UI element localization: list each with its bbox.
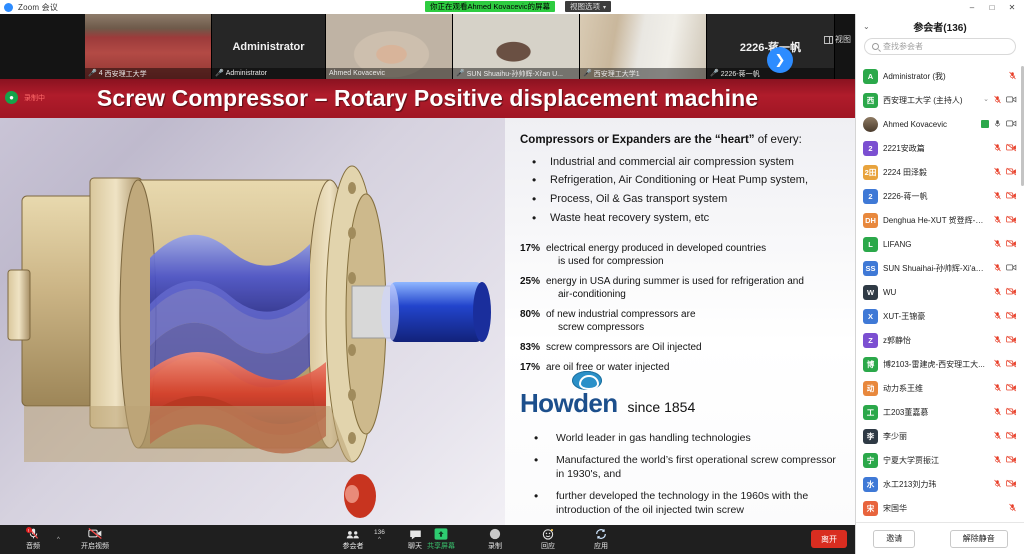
share-screen-icon — [434, 528, 448, 540]
meeting-toolbar: ! 音频 ^ 开启视频 136 — [0, 525, 855, 554]
avatar: X — [863, 309, 878, 324]
camera-on-icon[interactable] — [1006, 263, 1017, 274]
share-screen-label: 共享屏幕 — [427, 541, 455, 551]
host-badge-icon — [981, 120, 989, 128]
thumbnail-name: 西安理工大学 — [105, 69, 147, 79]
avatar: 工 — [863, 405, 878, 420]
slide-bullet-list: Industrial and commercial air compressio… — [520, 155, 845, 226]
mic-muted-icon[interactable] — [993, 263, 1002, 274]
camera-off-icon[interactable] — [1006, 335, 1017, 346]
mic-muted-icon[interactable] — [993, 95, 1002, 106]
participant-status-icons — [993, 143, 1017, 154]
camera-off-icon — [88, 528, 103, 540]
participant-name: 李少丽 — [883, 431, 988, 442]
slide-statistic: 25%energy in USA during summer is used f… — [520, 275, 845, 301]
mic-muted-icon[interactable] — [993, 359, 1002, 370]
window-controls: – □ ✕ — [962, 0, 1022, 14]
avatar: 动 — [863, 381, 878, 396]
participant-row[interactable]: WWU — [856, 280, 1024, 304]
slide-title: Screw Compressor – Rotary Positive displ… — [97, 85, 758, 112]
thumbnail-name-bar: 🎤西安理工大学1 — [580, 68, 706, 79]
camera-off-icon[interactable] — [1006, 239, 1017, 250]
camera-off-icon[interactable] — [1006, 143, 1017, 154]
reaction-icon — [542, 528, 554, 540]
avatar: L — [863, 237, 878, 252]
video-label: 开启视频 — [81, 541, 109, 551]
participant-name: 西安理工大学 (主持人) — [883, 95, 978, 106]
mic-on-icon[interactable] — [993, 119, 1002, 130]
participants-panel: ⌄ 参会者(136) AAdministrator (我)西西安理工大学 (主持… — [855, 14, 1024, 554]
participant-name: 博2103-雷建虎-西安理工大... — [883, 359, 988, 370]
statistic-text: screw compressors are Oil injected — [546, 341, 845, 354]
avatar: SS — [863, 261, 878, 276]
mic-muted-icon: ! — [27, 528, 40, 540]
zoom-meeting-window: Zoom 会议 你正在观看Ahmed Kovacevic的屏幕 视图选项▾ – … — [0, 0, 1024, 554]
camera-off-icon[interactable] — [1006, 383, 1017, 394]
view-options-button[interactable]: 视图选项▾ — [565, 1, 611, 12]
participant-row[interactable]: 水水工213刘力玮 — [856, 472, 1024, 496]
participant-status-icons — [993, 479, 1017, 490]
participants-caret-icon[interactable]: ^ — [378, 537, 381, 543]
thumbnail-prefix: 4 — [99, 70, 103, 77]
slide-lead: Compressors or Expanders are the “heart”… — [520, 134, 845, 148]
layout-icon — [824, 36, 833, 44]
collapse-icon[interactable]: ⌄ — [863, 22, 870, 31]
participant-name: XUT-王锦豪 — [883, 311, 988, 322]
avatar: 2 — [863, 141, 878, 156]
minimize-button[interactable]: – — [962, 0, 982, 14]
slide-bullet: Waste heat recovery system, etc — [520, 211, 845, 227]
participant-row[interactable]: LLIFANG — [856, 232, 1024, 256]
avatar: A — [863, 69, 878, 84]
slide-statistic: 83%screw compressors are Oil injected — [520, 341, 845, 354]
thumbnail-name: 2226-蒋一帆 — [721, 69, 760, 79]
participant-name: z郭静怡 — [883, 335, 988, 346]
video-button[interactable]: 开启视频 — [72, 527, 118, 552]
mic-muted-icon[interactable] — [993, 215, 1002, 226]
camera-off-icon[interactable] — [1006, 479, 1017, 490]
camera-off-icon[interactable] — [1006, 455, 1017, 466]
recording-label: 录制中 — [24, 93, 45, 103]
howden-branding: Howden since 1854 — [520, 388, 845, 419]
mic-muted-icon[interactable] — [993, 191, 1002, 202]
screen-share-banner: 你正在观看Ahmed Kovacevic的屏幕 — [425, 1, 555, 12]
participant-row[interactable]: 22221安政篇 — [856, 136, 1024, 160]
slide-bullet: Process, Oil & Gas transport system — [520, 192, 845, 208]
participant-name: Ahmed Kovacevic — [883, 120, 976, 129]
camera-off-icon[interactable] — [1006, 407, 1017, 418]
mic-muted-icon[interactable] — [993, 335, 1002, 346]
apps-icon — [595, 528, 607, 540]
participant-thumbnail[interactable]: Ahmed Kovacevic — [326, 14, 453, 79]
maximize-button[interactable]: □ — [982, 0, 1002, 14]
participant-row[interactable]: 西西安理工大学 (主持人)⌄ — [856, 88, 1024, 112]
howden-since: since 1854 — [628, 399, 696, 419]
participant-status-icons — [993, 335, 1017, 346]
mic-muted-icon[interactable] — [993, 167, 1002, 178]
participant-name: 2224 田泽毅 — [883, 167, 988, 178]
audio-caret-icon[interactable]: ^ — [57, 537, 60, 543]
participant-status-icons — [1008, 503, 1017, 514]
participant-status-icons — [993, 239, 1017, 250]
mic-muted-icon: 🎤 — [456, 70, 465, 77]
camera-on-icon[interactable] — [1006, 119, 1017, 130]
participant-status-icons — [993, 359, 1017, 370]
slide-bottom-bullet: further developed the technology in the … — [520, 489, 845, 518]
thumbnail-name-bar: Ahmed Kovacevic — [326, 68, 452, 79]
statistic-percent: 80% — [520, 308, 546, 334]
participant-row[interactable]: SSSUN Shuaihai-孙帅辉-Xi'an U... — [856, 256, 1024, 280]
mic-muted-icon[interactable] — [993, 287, 1002, 298]
participant-name: 2226-蒋一帆 — [883, 191, 988, 202]
participant-name: 宁夏大学贾振江 — [883, 455, 988, 466]
invite-button[interactable]: 邀请 — [873, 530, 915, 548]
mic-muted-icon[interactable] — [993, 143, 1002, 154]
participant-row[interactable]: Zz郭静怡 — [856, 328, 1024, 352]
participant-status-icons — [1008, 71, 1017, 82]
mic-muted-icon: 🎤 — [88, 70, 97, 77]
slide-bottom-bullet: World leader in gas handling technologie… — [520, 431, 845, 445]
mic-muted-icon[interactable] — [993, 455, 1002, 466]
participant-name: SUN Shuaihai-孙帅辉-Xi'an U... — [883, 263, 988, 274]
search-input[interactable] — [883, 42, 1008, 51]
participants-panel-footer: 邀请 解除静音 — [856, 522, 1024, 554]
mic-muted-icon[interactable] — [1008, 71, 1017, 82]
mic-muted-icon: 🎤 — [215, 70, 224, 77]
avatar: 西 — [863, 93, 878, 108]
participant-row[interactable]: Ahmed Kovacevic — [856, 112, 1024, 136]
avatar: 博 — [863, 357, 878, 372]
avatar: 2田 — [863, 165, 878, 180]
participant-name: LIFANG — [883, 240, 988, 249]
record-button[interactable]: 录制 — [472, 527, 518, 552]
view-button-label: 视图 — [835, 34, 851, 45]
participants-panel-header: ⌄ 参会者(136) — [856, 14, 1024, 38]
more-options-icon[interactable]: ⌄ — [983, 96, 989, 104]
close-button[interactable]: ✕ — [1002, 0, 1022, 14]
participant-thumbnail[interactable]: 🎤西安理工大学1 — [580, 14, 707, 79]
statistic-percent: 17% — [520, 361, 546, 374]
slide-bullet: Refrigeration, Air Conditioning or Heat … — [520, 173, 845, 189]
participant-row[interactable]: XXUT-王锦豪 — [856, 304, 1024, 328]
mic-muted-icon[interactable] — [993, 311, 1002, 322]
statistic-percent: 17% — [520, 242, 546, 268]
participant-status-icons — [993, 191, 1017, 202]
mic-muted-icon: 🎤 — [583, 70, 592, 77]
people-icon: 136 — [346, 528, 360, 540]
slide-bottom-bullet: Manufactured the world’s first operation… — [520, 453, 845, 482]
participant-row[interactable]: 宁宁夏大学贾振江 — [856, 448, 1024, 472]
participant-name: 动力系王维 — [883, 383, 988, 394]
camera-on-icon[interactable] — [1006, 95, 1017, 106]
slide-statistic: 17%are oil free or water injected — [520, 361, 845, 374]
participant-status-icons — [981, 119, 1017, 130]
participants-list[interactable]: AAdministrator (我)西西安理工大学 (主持人)⌄Ahmed Ko… — [856, 64, 1024, 519]
shared-screen-area[interactable]: ● 录制中 Screw Compressor – Rotary Positive… — [0, 79, 855, 525]
participants-search[interactable] — [864, 38, 1016, 55]
participant-status-icons — [993, 383, 1017, 394]
participant-row[interactable]: 李李少丽 — [856, 424, 1024, 448]
thumbnail-name: Administrator — [226, 70, 267, 77]
avatar: DH — [863, 213, 878, 228]
participant-row[interactable]: 动动力系王维 — [856, 376, 1024, 400]
reactions-label: 回应 — [541, 541, 555, 551]
participant-row[interactable]: DHDenghua He-XUT 贺登辉-西... — [856, 208, 1024, 232]
slide-lead-bold: Compressors or Expanders are the “heart” — [520, 134, 755, 146]
participant-status-icons — [993, 167, 1017, 178]
participant-name: 2221安政篇 — [883, 143, 988, 154]
camera-off-icon[interactable] — [1006, 167, 1017, 178]
participant-name: Denghua He-XUT 贺登辉-西... — [883, 215, 988, 226]
share-screen-button[interactable]: 共享屏幕 — [418, 527, 464, 552]
camera-off-icon[interactable] — [1006, 287, 1017, 298]
participant-status-icons — [993, 263, 1017, 274]
camera-off-icon[interactable] — [1006, 191, 1017, 202]
thumbnail-name-bar: 🎤Administrator — [212, 68, 325, 79]
record-label: 录制 — [488, 541, 502, 551]
participant-status-icons — [993, 431, 1017, 442]
camera-off-icon[interactable] — [1006, 215, 1017, 226]
avatar: 水 — [863, 477, 878, 492]
statistic-percent: 83% — [520, 341, 546, 354]
mic-muted-icon[interactable] — [1008, 503, 1017, 514]
slide-statistics: 17%electrical energy produced in develop… — [520, 242, 845, 374]
avatar — [863, 117, 878, 132]
app-title: Zoom 会议 — [18, 2, 58, 13]
participants-button[interactable]: 136 参会者 — [330, 527, 376, 552]
participant-name: 水工213刘力玮 — [883, 479, 988, 490]
screw-compressor-cutaway-image — [0, 118, 505, 525]
slide-title-bar: ● 录制中 Screw Compressor – Rotary Positive… — [0, 79, 855, 118]
apps-label: 应用 — [594, 541, 608, 551]
recording-indicator-icon[interactable]: ● — [5, 91, 18, 104]
audio-label: 音频 — [26, 541, 40, 551]
leave-button[interactable]: 离开 — [811, 530, 847, 548]
audio-button[interactable]: ! 音频 — [10, 527, 56, 552]
mic-muted-icon[interactable] — [993, 239, 1002, 250]
unmute-button[interactable]: 解除静音 — [950, 530, 1008, 548]
participant-thumbnail[interactable]: Administrator🎤Administrator — [212, 14, 326, 79]
record-circle-icon — [489, 528, 501, 540]
camera-off-icon[interactable] — [1006, 311, 1017, 322]
audio-alert-badge: ! — [26, 527, 32, 533]
howden-logo: Howden — [520, 388, 618, 419]
statistic-text: energy in USA during summer is used for … — [546, 275, 845, 301]
next-page-arrow-icon[interactable]: ❯ — [767, 47, 793, 73]
participant-status-icons — [993, 215, 1017, 226]
participant-name: WU — [883, 288, 988, 297]
thumbnail-name: SUN Shuaihu-孙帅辉-Xi'an U... — [467, 69, 563, 79]
participant-row[interactable]: 工工203董嘉慕 — [856, 400, 1024, 424]
participants-label: 参会者 — [343, 541, 364, 551]
participant-name: 宋国华 — [883, 503, 1003, 514]
participant-status-icons: ⌄ — [983, 95, 1017, 106]
slide-body: Compressors or Expanders are the “heart”… — [0, 118, 855, 525]
participants-panel-title: 参会者(136) — [913, 19, 966, 34]
apps-button[interactable]: 应用 — [578, 527, 624, 552]
slide-statistic: 80%of new industrial compressors arescre… — [520, 308, 845, 334]
zoom-logo-icon — [4, 3, 13, 12]
participant-thumbnail[interactable]: 🎤4西安理工大学 — [85, 14, 212, 79]
search-icon — [872, 43, 879, 50]
title-bar: Zoom 会议 你正在观看Ahmed Kovacevic的屏幕 视图选项▾ – … — [0, 0, 1024, 14]
participant-row[interactable]: 宋宋国华 — [856, 496, 1024, 519]
participant-status-icons — [993, 455, 1017, 466]
slide-lead-rest: of every: — [755, 134, 802, 146]
slide-statistic: 17%electrical energy produced in develop… — [520, 242, 845, 268]
mic-muted-icon[interactable] — [993, 383, 1002, 394]
participant-thumbnail[interactable]: 🎤SUN Shuaihu-孙帅辉-Xi'an U... — [453, 14, 580, 79]
participant-status-icons — [993, 287, 1017, 298]
slide-bottom-bullet-list: World leader in gas handling technologie… — [520, 431, 845, 517]
chevron-down-icon: ▾ — [603, 5, 606, 11]
avatar: 2 — [863, 189, 878, 204]
slide-bullet: Industrial and commercial air compressio… — [520, 155, 845, 171]
avatar: Z — [863, 333, 878, 348]
thumbnail-name-bar: 🎤SUN Shuaihu-孙帅辉-Xi'an U... — [453, 68, 579, 79]
mic-muted-icon[interactable] — [993, 479, 1002, 490]
participant-name: 工203董嘉慕 — [883, 407, 988, 418]
statistic-text: of new industrial compressors arescrew c… — [546, 308, 845, 334]
participant-row[interactable]: 2田2224 田泽毅 — [856, 160, 1024, 184]
mic-muted-icon[interactable] — [993, 431, 1002, 442]
view-button[interactable]: 视图 — [824, 34, 851, 45]
slide-text-column: Compressors or Expanders are the “heart”… — [512, 118, 855, 525]
mic-muted-icon[interactable] — [993, 407, 1002, 418]
mic-muted-icon: 🎤 — [710, 70, 719, 77]
camera-off-icon[interactable] — [1006, 359, 1017, 370]
participant-row[interactable]: AAdministrator (我) — [856, 64, 1024, 88]
participant-row[interactable]: 22226-蒋一帆 — [856, 184, 1024, 208]
participants-count: 136 — [374, 529, 385, 536]
avatar: W — [863, 285, 878, 300]
camera-off-icon[interactable] — [1006, 431, 1017, 442]
thumbnail-name-bar: 🎤4西安理工大学 — [85, 68, 211, 79]
howden-wordmark: Howden — [520, 388, 618, 419]
reactions-button[interactable]: 回应 — [525, 527, 571, 552]
participant-row[interactable]: 博博2103-雷建虎-西安理工大... — [856, 352, 1024, 376]
thumbnail-name: 西安理工大学1 — [594, 69, 640, 79]
participant-status-icons — [993, 311, 1017, 322]
view-options-label: 视图选项 — [570, 2, 600, 11]
avatar: 宋 — [863, 501, 878, 516]
participant-name: Administrator (我) — [883, 71, 1003, 82]
statistic-percent: 25% — [520, 275, 546, 301]
participant-thumbnail-strip: 🎤4西安理工大学Administrator🎤AdministratorAhmed… — [0, 14, 855, 79]
thumbnail-name: Ahmed Kovacevic — [329, 70, 385, 77]
participant-status-icons — [993, 407, 1017, 418]
avatar: 宁 — [863, 453, 878, 468]
avatar: 李 — [863, 429, 878, 444]
statistic-text: electrical energy produced in developed … — [546, 242, 845, 268]
